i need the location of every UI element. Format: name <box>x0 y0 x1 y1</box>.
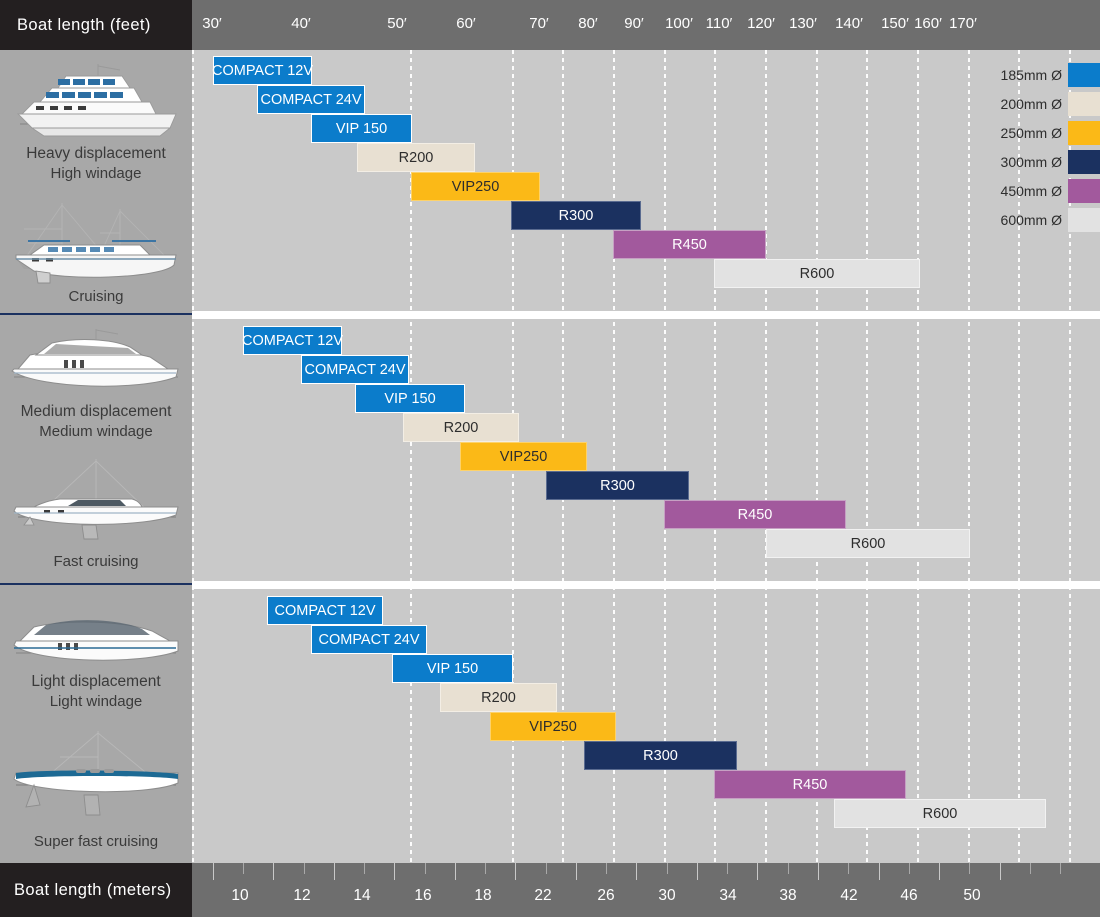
bar-vip-150[interactable]: VIP 150 <box>392 654 513 683</box>
bottom-tick-mark <box>273 863 274 880</box>
plot-area: Heavy displacement High windage <box>0 50 1100 863</box>
bottom-tick-30m: 30 <box>658 887 675 905</box>
gridline <box>192 50 194 863</box>
bottom-tick-22m: 22 <box>534 887 551 905</box>
legend-item-450mm[interactable]: 450mm Ø <box>1001 179 1100 203</box>
bottom-tick-mark-minor <box>727 863 728 874</box>
sailing-yacht-fast-illustration <box>0 455 192 550</box>
sidebar-row-medium-displacement: Medium displacement Medium windage <box>0 315 192 585</box>
bottom-tick-46m: 46 <box>900 887 917 905</box>
racing-yacht-superfast-illustration <box>0 727 192 827</box>
bottom-tick-mark <box>515 863 516 880</box>
top-tick-40ft: 40′ <box>291 15 311 32</box>
legend-label: 185mm Ø <box>1001 67 1062 83</box>
legend-item-250mm[interactable]: 250mm Ø <box>1001 121 1100 145</box>
motor-yacht-medium-illustration <box>0 327 192 405</box>
bottom-tick-26m: 26 <box>597 887 614 905</box>
top-tick-120ft: 120′ <box>747 15 775 32</box>
bar-r300[interactable]: R300 <box>511 201 641 230</box>
bottom-tick-mark <box>757 863 758 880</box>
row3-boat-type-label: Super fast cruising <box>0 833 192 851</box>
bottom-tick-14m: 14 <box>353 887 370 905</box>
bar-r300[interactable]: R300 <box>584 741 737 770</box>
top-tick-130ft: 130′ <box>789 15 817 32</box>
sidebar-row-light-displacement: Light displacement Light windage <box>0 585 192 863</box>
bottom-tick-mark-minor <box>1060 863 1061 874</box>
sidebar: Heavy displacement High windage <box>0 50 192 863</box>
legend-label: 300mm Ø <box>1001 154 1062 170</box>
gridline <box>816 50 818 863</box>
bottom-tick-mark <box>818 863 819 880</box>
gridline <box>917 50 919 863</box>
top-tick-90ft: 90′ <box>624 15 644 32</box>
row1-boat-type-label: Cruising <box>0 288 192 306</box>
bottom-tick-mark <box>879 863 880 880</box>
bar-r600[interactable]: R600 <box>766 529 970 558</box>
legend-swatch <box>1068 121 1100 145</box>
legend-item-300mm[interactable]: 300mm Ø <box>1001 150 1100 174</box>
bar-compact-24v[interactable]: COMPACT 24V <box>311 625 427 654</box>
top-tick-60ft: 60′ <box>456 15 476 32</box>
bottom-axis-tick-labels: 10121416182226303438424650 <box>0 863 1100 917</box>
bottom-tick-mark <box>1000 863 1001 880</box>
bottom-tick-mark-minor <box>909 863 910 874</box>
legend-swatch <box>1068 150 1100 174</box>
bar-compact-12v[interactable]: COMPACT 12V <box>243 326 342 355</box>
bar-r300[interactable]: R300 <box>546 471 689 500</box>
bar-vip-150[interactable]: VIP 150 <box>355 384 465 413</box>
bottom-tick-mark-minor <box>485 863 486 874</box>
legend-label: 450mm Ø <box>1001 183 1062 199</box>
legend-item-200mm[interactable]: 200mm Ø <box>1001 92 1100 116</box>
row3-displacement-label: Light displacement <box>0 673 192 691</box>
gridline <box>866 50 868 863</box>
bottom-axis-bar: Boat length (meters) 1012141618222630343… <box>0 863 1100 917</box>
bottom-tick-mark-minor <box>243 863 244 874</box>
top-tick-150ft: 150′ <box>881 15 909 32</box>
top-tick-70ft: 70′ <box>529 15 549 32</box>
bottom-tick-mark <box>697 863 698 880</box>
legend-label: 200mm Ø <box>1001 96 1062 112</box>
bottom-tick-50m: 50 <box>963 887 980 905</box>
bar-r200[interactable]: R200 <box>403 413 519 442</box>
bar-vip250[interactable]: VIP250 <box>460 442 587 471</box>
bottom-tick-mark-minor <box>1030 863 1031 874</box>
bottom-tick-mark-minor <box>606 863 607 874</box>
row2-windage-label: Medium windage <box>0 423 192 441</box>
bar-r200[interactable]: R200 <box>440 683 557 712</box>
bar-r450[interactable]: R450 <box>714 770 906 799</box>
bottom-tick-mark-minor <box>546 863 547 874</box>
bottom-tick-mark-minor <box>667 863 668 874</box>
bottom-tick-mark-minor <box>848 863 849 874</box>
bar-r600[interactable]: R600 <box>834 799 1046 828</box>
row2-boat-type-label: Fast cruising <box>0 553 192 571</box>
gridline <box>765 50 767 863</box>
bottom-tick-mark <box>334 863 335 880</box>
bar-vip250[interactable]: VIP250 <box>490 712 616 741</box>
row1-displacement-label: Heavy displacement <box>0 145 192 163</box>
bottom-tick-42m: 42 <box>840 887 857 905</box>
motor-yacht-heavy-illustration <box>0 62 192 148</box>
top-tick-110ft: 110′ <box>706 15 733 32</box>
bar-r450[interactable]: R450 <box>664 500 846 529</box>
legend-label: 600mm Ø <box>1001 212 1062 228</box>
legend-swatch <box>1068 92 1100 116</box>
bottom-tick-mark <box>394 863 395 880</box>
bottom-tick-mark <box>213 863 214 880</box>
top-tick-50ft: 50′ <box>387 15 407 32</box>
chart-root: Boat length (feet) 30′40′50′60′70′80′90′… <box>0 0 1100 917</box>
top-tick-30ft: 30′ <box>202 15 222 32</box>
bar-compact-24v[interactable]: COMPACT 24V <box>257 85 365 114</box>
top-tick-140ft: 140′ <box>835 15 863 32</box>
bar-vip250[interactable]: VIP250 <box>411 172 540 201</box>
top-tick-100ft: 100′ <box>665 15 693 32</box>
row1-windage-label: High windage <box>0 165 192 183</box>
legend-swatch <box>1068 208 1100 232</box>
bottom-tick-12m: 12 <box>293 887 310 905</box>
sport-yacht-light-illustration <box>0 603 192 677</box>
bottom-tick-mark-minor <box>425 863 426 874</box>
bottom-tick-16m: 16 <box>414 887 431 905</box>
top-tick-80ft: 80′ <box>578 15 598 32</box>
bottom-tick-mark-minor <box>304 863 305 874</box>
bottom-tick-mark-minor <box>788 863 789 874</box>
bar-compact-12v[interactable]: COMPACT 12V <box>213 56 312 85</box>
row3-windage-label: Light windage <box>0 693 192 711</box>
ketch-cruising-illustration <box>0 195 192 290</box>
bar-r200[interactable]: R200 <box>357 143 475 172</box>
bottom-tick-mark-minor <box>364 863 365 874</box>
top-tick-170ft: 170′ <box>949 15 977 32</box>
legend-swatch <box>1068 63 1100 87</box>
bar-vip-150[interactable]: VIP 150 <box>311 114 412 143</box>
top-axis-tick-labels: 30′40′50′60′70′80′90′100′110′120′130′140… <box>0 0 1100 50</box>
legend-label: 250mm Ø <box>1001 125 1062 141</box>
legend-swatch <box>1068 179 1100 203</box>
top-tick-160ft: 160′ <box>914 15 942 32</box>
top-axis-bar: Boat length (feet) 30′40′50′60′70′80′90′… <box>0 0 1100 50</box>
bar-compact-12v[interactable]: COMPACT 12V <box>267 596 383 625</box>
bottom-tick-18m: 18 <box>474 887 491 905</box>
bar-compact-24v[interactable]: COMPACT 24V <box>301 355 409 384</box>
bottom-tick-38m: 38 <box>779 887 796 905</box>
bottom-tick-mark <box>576 863 577 880</box>
sidebar-row-heavy-displacement: Heavy displacement High windage <box>0 50 192 315</box>
gridline <box>968 50 970 863</box>
bar-r450[interactable]: R450 <box>613 230 766 259</box>
bottom-tick-mark-minor <box>969 863 970 874</box>
bottom-tick-10m: 10 <box>231 887 248 905</box>
bar-r600[interactable]: R600 <box>714 259 920 288</box>
bottom-tick-mark <box>636 863 637 880</box>
bottom-tick-34m: 34 <box>719 887 736 905</box>
bottom-tick-mark <box>939 863 940 880</box>
legend-item-600mm[interactable]: 600mm Ø <box>1001 208 1100 232</box>
row2-displacement-label: Medium displacement <box>0 403 192 421</box>
bottom-tick-mark <box>455 863 456 880</box>
legend-item-185mm[interactable]: 185mm Ø <box>1001 63 1100 87</box>
